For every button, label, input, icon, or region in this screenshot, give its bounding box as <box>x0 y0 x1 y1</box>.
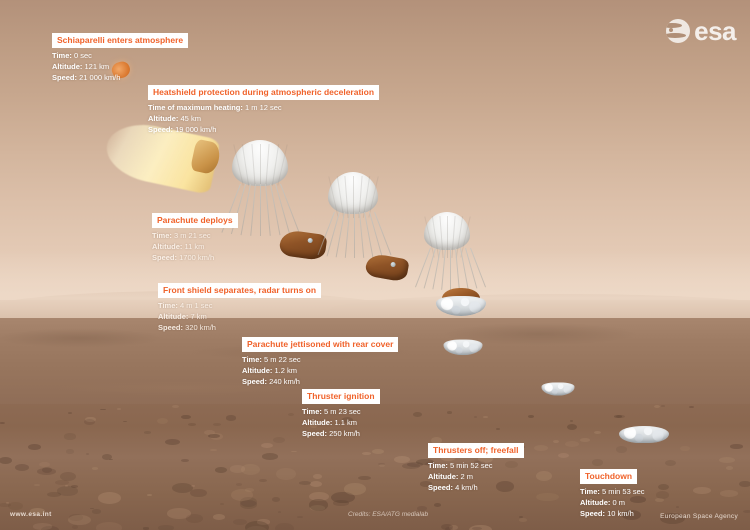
terrain-rock <box>72 525 78 529</box>
callout-entry[interactable]: Schiaparelli enters atmosphere Time: 0 s… <box>52 30 188 84</box>
thruster-descent-graphic <box>438 330 488 360</box>
callout-title: Heatshield protection during atmospheric… <box>148 85 379 100</box>
parachute-lines <box>240 184 280 236</box>
terrain-rock <box>379 464 385 467</box>
terrain-rock <box>570 420 574 422</box>
terrain-rock <box>102 454 112 460</box>
terrain-rock <box>689 406 694 408</box>
callout-front-shield[interactable]: Front shield separates, radar turns on T… <box>158 280 321 334</box>
speed-label: Speed: <box>302 429 327 438</box>
callout-title: Schiaparelli enters atmosphere <box>52 33 188 48</box>
parachute-lines <box>334 212 374 258</box>
infographic-canvas: esa <box>0 0 750 530</box>
callout-speed-row: Speed: 4 km/h <box>428 483 524 494</box>
time-value: 3 m 21 sec <box>174 231 211 240</box>
terrain-rock <box>261 443 273 448</box>
terrain-rock <box>565 441 579 447</box>
parachute-gore <box>251 144 255 186</box>
terrain-rock <box>553 440 559 443</box>
callout-parachute-deploy[interactable]: Parachute deploys Time: 3 m 21 sec Altit… <box>152 210 238 264</box>
terrain-rock <box>57 486 78 496</box>
callout-altitude-row: Altitude: 0 m <box>580 498 645 509</box>
speed-label: Speed: <box>158 323 183 332</box>
altitude-label: Altitude: <box>148 114 178 123</box>
terrain-rock <box>34 484 40 486</box>
terrain-rock <box>474 416 478 418</box>
terrain-rock <box>230 465 245 472</box>
terrain-rock <box>445 527 453 530</box>
terrain-rock <box>15 464 29 471</box>
terrain-rock <box>580 438 591 442</box>
terrain-rock <box>181 415 191 420</box>
time-label: Time: <box>52 51 72 60</box>
callout-time-row: Time: 5 m 23 sec <box>302 407 380 418</box>
capsule-lens-icon <box>307 238 313 244</box>
credit-website[interactable]: www.esa.int <box>10 511 52 518</box>
terrain-rock <box>42 467 52 473</box>
terrain-rock <box>215 467 227 473</box>
terrain-rock <box>358 476 371 480</box>
callout-details: Time: 4 m 1 sec Altitude: 7 km Speed: 32… <box>158 301 321 334</box>
terrain-rock <box>236 483 243 486</box>
altitude-label: Altitude: <box>52 62 82 71</box>
terrain-rock <box>275 523 294 530</box>
callout-altitude-row: Altitude: 1.2 km <box>242 366 398 377</box>
terrain-rock <box>68 515 90 526</box>
terrain-rock <box>66 449 74 454</box>
speed-value: 1700 km/h <box>179 253 214 262</box>
terrain-rock <box>680 446 690 451</box>
terrain-rock <box>186 514 203 523</box>
callout-details: Time: 5 min 52 sec Altitude: 2 m Speed: … <box>428 461 524 494</box>
time-value: 1 m 12 sec <box>245 103 282 112</box>
lander-airbag-underside <box>619 426 669 443</box>
terrain-rock <box>278 511 281 513</box>
capsule-lens-icon <box>390 262 396 268</box>
terrain-rock <box>210 449 217 452</box>
terrain-rock <box>592 459 603 466</box>
callout-details: Time: 5 min 53 sec Altitude: 0 m Speed: … <box>580 487 645 520</box>
altitude-label: Altitude: <box>158 312 188 321</box>
speed-label: Speed: <box>428 483 453 492</box>
speed-label: Speed: <box>242 377 267 386</box>
terrain-rock <box>60 472 76 482</box>
lander-with-chute <box>436 288 486 318</box>
speed-label: Speed: <box>580 509 605 518</box>
terrain-rock <box>394 456 410 463</box>
speed-value: 250 km/h <box>329 429 360 438</box>
callout-time-row: Time: 0 sec <box>52 51 188 62</box>
altitude-value: 1.1 km <box>335 418 358 427</box>
parachute-suspension-line <box>359 212 364 258</box>
heatshield-entry-graphic <box>106 128 216 184</box>
time-label: Time: <box>152 231 172 240</box>
time-value: 5 m 22 sec <box>264 355 301 364</box>
terrain-rock <box>288 413 294 416</box>
parachute-gore <box>260 144 261 186</box>
callout-speed-row: Speed: 320 km/h <box>158 323 321 334</box>
terrain-rock <box>483 416 488 418</box>
terrain-rock <box>739 481 750 488</box>
terrain-rock <box>536 493 559 501</box>
callout-title: Parachute jettisoned with rear cover <box>242 337 398 352</box>
callout-title: Parachute deploys <box>152 213 238 228</box>
terrain-rock <box>233 519 246 525</box>
parachute-suspension-line <box>441 248 446 290</box>
terrain-rock <box>654 405 660 408</box>
terrain-rock <box>291 451 296 453</box>
lander-airbag-underside <box>436 296 486 316</box>
terrain-rock <box>519 518 527 522</box>
terrain-rock <box>594 431 601 434</box>
terrain-rock <box>0 457 12 464</box>
terrain-rock <box>447 411 452 414</box>
altitude-value: 0 m <box>613 498 626 507</box>
terrain-rock <box>272 497 280 502</box>
terrain-rock <box>188 423 196 426</box>
callout-thruster-ignition[interactable]: Thruster ignition Time: 5 m 23 sec Altit… <box>302 386 380 440</box>
callout-parachute-jettison[interactable]: Parachute jettisoned with rear cover Tim… <box>242 334 398 388</box>
terrain-rock <box>310 481 322 487</box>
terrain-rock <box>117 408 120 410</box>
parachute-gore <box>266 144 270 186</box>
speed-value: 10 km/h <box>607 509 634 518</box>
terrain-rock <box>719 457 735 463</box>
time-value: 5 min 53 sec <box>602 487 645 496</box>
terrain-rock <box>84 419 94 425</box>
altitude-label: Altitude: <box>152 242 182 251</box>
terrain-rock <box>536 471 552 481</box>
callout-details: Time: 0 sec Altitude: 121 km Speed: 21 0… <box>52 51 188 84</box>
terrain-rock <box>158 525 174 530</box>
time-label: Time: <box>580 487 600 496</box>
terrain-rock <box>534 445 548 451</box>
parachute-suspension-line <box>354 212 355 258</box>
altitude-value: 1.2 km <box>275 366 298 375</box>
terrain-rock <box>665 460 677 466</box>
terrain-rock <box>407 462 423 467</box>
terrain-rock <box>213 423 221 426</box>
terrain-rock <box>297 516 303 518</box>
terrain-rock <box>496 428 500 430</box>
time-label: Time: <box>302 407 322 416</box>
terrain-rock <box>172 405 178 408</box>
parachute-suspension-line <box>270 184 280 235</box>
credit-center: Credits: ESA/ATG medialab <box>348 511 428 518</box>
callout-touchdown[interactable]: Touchdown Time: 5 min 53 sec Altitude: 0… <box>580 466 645 520</box>
terrain-rock <box>656 491 669 499</box>
lander-airbag-underside <box>542 382 575 395</box>
terrain-rock <box>743 510 750 513</box>
terrain-rock <box>208 434 220 439</box>
parachute-suspension-line <box>250 184 256 236</box>
callout-altitude-row: Altitude: 1.1 km <box>302 418 380 429</box>
time-label: Time: <box>428 461 448 470</box>
time-label: Time: <box>158 301 178 310</box>
altitude-label: Altitude: <box>580 498 610 507</box>
terrain-rock <box>157 418 168 424</box>
callout-time-row: Time: 5 m 22 sec <box>242 355 398 366</box>
terrain-rock <box>726 466 733 470</box>
terrain-rock <box>33 523 52 529</box>
terrain-rock <box>259 479 267 483</box>
terrain-rock <box>273 437 285 443</box>
terrain-rock <box>567 424 577 430</box>
terrain-rock <box>730 444 743 448</box>
callout-title: Thrusters off; freefall <box>428 443 524 458</box>
altitude-label: Altitude: <box>242 366 272 375</box>
terrain-rock <box>661 405 665 407</box>
terrain-rock <box>8 502 23 510</box>
callout-time-row: Time: 5 min 52 sec <box>428 461 524 472</box>
terrain-rock <box>313 474 321 479</box>
speed-label: Speed: <box>52 73 77 82</box>
terrain-rock <box>213 514 225 520</box>
altitude-label: Altitude: <box>302 418 332 427</box>
terrain-rock <box>147 494 152 496</box>
terrain-rock <box>123 421 127 422</box>
callout-heatshield[interactable]: Heatshield protection during atmospheric… <box>148 82 379 136</box>
esa-globe-dot <box>669 28 673 32</box>
callout-title: Thruster ignition <box>302 389 380 404</box>
callout-time-row: Time: 5 min 53 sec <box>580 487 645 498</box>
terrain-rock <box>92 509 102 514</box>
speed-label: Speed: <box>152 253 177 262</box>
terrain-rock <box>98 492 121 504</box>
altitude-label: Altitude: <box>428 472 458 481</box>
parachute-gore <box>242 144 249 186</box>
esa-globe-icon <box>666 19 690 43</box>
callout-speed-row: Speed: 10 km/h <box>580 509 645 520</box>
lander-descending <box>444 333 483 356</box>
terrain-rock <box>143 527 148 529</box>
altitude-value: 7 km <box>191 312 207 321</box>
callout-time-row: Time of maximum heating: 1 m 12 sec <box>148 103 379 114</box>
time-label: Time of maximum heating: <box>148 103 243 112</box>
terrain-rock <box>190 489 206 498</box>
altitude-value: 2 m <box>461 472 474 481</box>
callout-title: Touchdown <box>580 469 637 484</box>
lander-airbag-underside <box>444 340 483 356</box>
terrain-rock <box>434 503 440 507</box>
terrain-rock <box>245 488 254 491</box>
callout-altitude-row: Altitude: 121 km <box>52 62 188 73</box>
terrain-rock <box>362 452 371 455</box>
time-value: 4 m 1 sec <box>180 301 213 310</box>
terrain-rock <box>372 449 384 454</box>
callout-details: Time of maximum heating: 1 m 12 sec Alti… <box>148 103 379 136</box>
callout-time-row: Time: 4 m 1 sec <box>158 301 321 312</box>
touchdown-lander-graphic <box>619 418 669 448</box>
esa-logo: esa <box>666 18 736 44</box>
callout-thrusters-off[interactable]: Thrusters off; freefall Time: 5 min 52 s… <box>428 440 524 494</box>
parachute-suspension-line <box>260 184 261 236</box>
parachute-suspension-line <box>450 248 451 290</box>
terrain-rock <box>96 522 122 530</box>
terrain-rock <box>720 490 738 496</box>
time-value: 5 min 52 sec <box>450 461 493 470</box>
callout-altitude-row: Altitude: 7 km <box>158 312 321 323</box>
callout-details: Time: 5 m 22 sec Altitude: 1.2 km Speed:… <box>242 355 398 388</box>
terrain-rock <box>658 484 669 490</box>
altitude-value: 121 km <box>85 62 110 71</box>
terrain-rock <box>28 444 41 450</box>
callout-altitude-row: Altitude: 2 m <box>428 472 524 483</box>
speed-value: 320 km/h <box>185 323 216 332</box>
terrain-rock <box>245 521 269 530</box>
time-value: 5 m 23 sec <box>324 407 361 416</box>
parachute-suspension-line <box>345 212 350 258</box>
callout-altitude-row: Altitude: 11 km <box>152 242 238 253</box>
terrain-rock <box>100 409 105 411</box>
callout-altitude-row: Altitude: 45 km <box>148 114 379 125</box>
terrain-rock <box>344 483 366 495</box>
terrain-rock <box>64 433 77 440</box>
lander-freefall <box>542 377 575 397</box>
terrain-rock <box>558 453 569 458</box>
terrain-rock <box>276 468 296 480</box>
terrain-rock <box>220 503 224 505</box>
terrain-rock <box>528 415 534 418</box>
terrain-rock <box>309 499 328 510</box>
callout-speed-row: Speed: 19 000 km/h <box>148 125 379 136</box>
speed-label: Speed: <box>148 125 173 134</box>
parachute-suspension-line <box>265 184 271 236</box>
credit-agency: European Space Agency <box>660 513 738 520</box>
parachute-lines <box>430 248 470 290</box>
speed-value: 21 000 km/h <box>79 73 120 82</box>
altitude-value: 45 km <box>181 114 201 123</box>
terrain-rock <box>413 412 422 417</box>
time-value: 0 sec <box>74 51 92 60</box>
terrain-rock <box>262 453 278 459</box>
speed-value: 4 km/h <box>455 483 478 492</box>
terrain-rock <box>181 459 189 462</box>
terrain-rock <box>68 412 72 414</box>
lander-landed <box>619 418 669 448</box>
callout-speed-row: Speed: 250 km/h <box>302 429 380 440</box>
callout-details: Time: 3 m 21 sec Altitude: 11 km Speed: … <box>152 231 238 264</box>
terrain-rock <box>226 415 236 420</box>
terrain-rock <box>144 431 151 434</box>
altitude-value: 11 km <box>185 242 205 251</box>
terrain-rock <box>0 422 5 424</box>
freefall-lander-graphic <box>533 372 583 402</box>
callout-details: Time: 5 m 23 sec Altitude: 1.1 km Speed:… <box>302 407 380 440</box>
speed-value: 19 000 km/h <box>175 125 216 134</box>
speed-value: 240 km/h <box>269 377 300 386</box>
terrain-rock <box>86 453 89 455</box>
terrain-rock <box>472 527 483 530</box>
time-label: Time: <box>242 355 262 364</box>
callout-speed-row: Speed: 1700 km/h <box>152 253 238 264</box>
terrain-rock <box>693 487 711 495</box>
terrain-rock <box>165 439 179 445</box>
parachute-suspension-line <box>455 248 460 290</box>
callout-title: Front shield separates, radar turns on <box>158 283 321 298</box>
callout-time-row: Time: 3 m 21 sec <box>152 231 238 242</box>
terrain-rock <box>676 506 680 508</box>
terrain-rock <box>92 467 98 470</box>
esa-wordmark: esa <box>694 18 736 44</box>
